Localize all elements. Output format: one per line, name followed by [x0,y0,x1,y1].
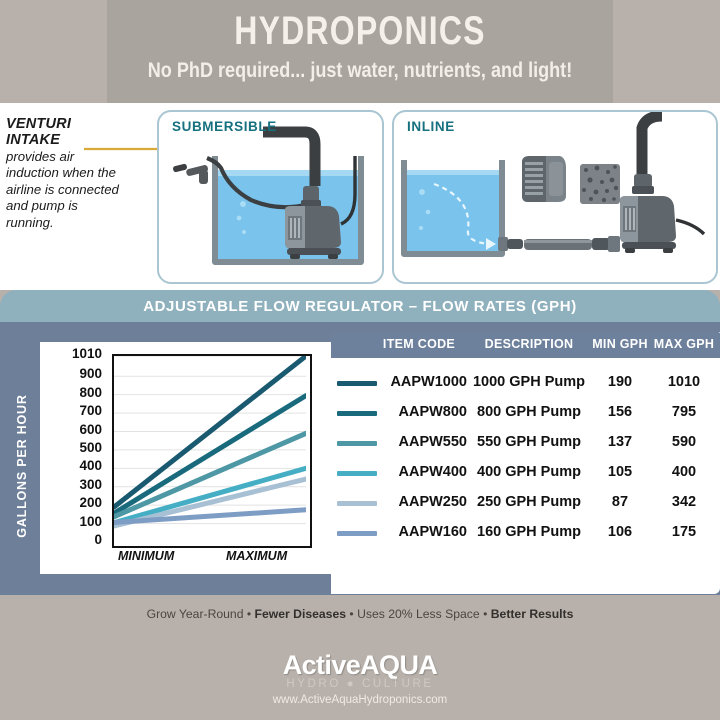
chart-y-tick: 300 [44,479,102,491]
chart-lines [114,356,306,542]
page-title: HYDROPONICS [158,8,563,54]
tagline-part: Uses 20% Less Space [357,607,480,621]
submersible-diagram [159,112,382,282]
cell-description: 1000 GPH Pump [471,374,587,390]
tagline-part: • [244,607,255,621]
panel-inline-label: INLINE [407,119,455,134]
chart-y-tick: 800 [44,387,102,399]
cell-description: 400 GPH Pump [471,464,587,480]
chart-y-tick: 500 [44,442,102,454]
logo-primary-text: ActiveAQUA [0,650,720,681]
cell-min-gph: 190 [589,374,651,390]
cell-item-code: AAPW400 [371,464,467,480]
cell-max-gph: 175 [653,524,715,540]
cell-max-gph: 795 [653,404,715,420]
table-row: AAPW550550 GPH Pump137590 [331,428,720,458]
page-subtitle: No PhD required... just water, nutrients… [142,58,577,84]
table-row: AAPW160160 GPH Pump106175 [331,518,720,548]
inline-diagram [394,112,716,282]
chart-plot-area [112,354,312,548]
cell-description: 250 GPH Pump [471,494,587,510]
venturi-callout-body: provides air induction when the airline … [6,149,128,231]
chart-y-axis-title: GALLONS PER HOUR [11,374,33,564]
chart-y-tick: 400 [44,460,102,472]
chart-y-tick: 900 [44,368,102,380]
cell-item-code: AAPW250 [371,494,467,510]
chart-y-tick: 1010 [44,348,102,360]
panel-submersible-label: SUBMERSIBLE [172,119,277,134]
header-band: HYDROPONICS No PhD required... just wate… [107,0,613,103]
table-row: AAPW250250 GPH Pump87342 [331,488,720,518]
chart-y-tick: 100 [44,516,102,528]
cell-max-gph: 1010 [653,374,715,390]
cell-item-code: AAPW550 [371,434,467,450]
cell-min-gph: 106 [589,524,651,540]
table-header-row: ITEM CODE DESCRIPTION MIN GPH MAX GPH [331,332,720,358]
logo-secondary-text: HYDRO ● CULTURE [0,678,720,690]
cell-description: 160 GPH Pump [471,524,587,540]
cell-item-code: AAPW1000 [371,374,467,390]
table-col-item-code: ITEM CODE [371,337,467,351]
chart-y-tick: 200 [44,497,102,509]
cell-max-gph: 590 [653,434,715,450]
table-row: AAPW10001000 GPH Pump1901010 [331,368,720,398]
chart-y-axis-title-text: GALLONS PER HOUR [15,371,29,561]
venturi-callout-title: VENTURI INTAKE [6,116,128,148]
panel-submersible: SUBMERSIBLE [157,110,384,284]
cell-description: 800 GPH Pump [471,404,587,420]
chart-x-tick-min: MINIMUM [118,549,174,563]
panel-inline: INLINE [392,110,718,284]
chart-y-tick: 0 [44,534,102,546]
tagline-part: Grow Year-Round [147,607,244,621]
cell-min-gph: 156 [589,404,651,420]
chart-x-tick-max: MAXIMUM [226,549,287,563]
chart-y-tick: 700 [44,405,102,417]
card-inner: GALLONS PER HOUR 01002003004005006007008… [0,322,720,595]
tagline: Grow Year-Round • Fewer Diseases • Uses … [0,607,720,621]
tagline-part: • [346,607,357,621]
cell-min-gph: 137 [589,434,651,450]
cell-description: 550 GPH Pump [471,434,587,450]
chart-y-tick: 600 [44,424,102,436]
table-col-min-gph: MIN GPH [589,337,651,351]
cell-max-gph: 400 [653,464,715,480]
tagline-part: Better Results [491,607,574,621]
table-col-description: DESCRIPTION [471,337,587,351]
website-url: www.ActiveAquaHydroponics.com [0,694,720,706]
cell-min-gph: 105 [589,464,651,480]
cell-max-gph: 342 [653,494,715,510]
flow-rate-card: ADJUSTABLE FLOW REGULATOR – FLOW RATES (… [0,290,720,595]
tagline-part: • [480,607,491,621]
brand-logo: ActiveAQUA HYDRO ● CULTURE www.ActiveAqu… [0,650,720,706]
table-row: AAPW400400 GPH Pump105400 [331,458,720,488]
card-title: ADJUSTABLE FLOW REGULATOR – FLOW RATES (… [0,298,720,315]
venturi-callout: VENTURI INTAKE provides air induction wh… [6,116,128,231]
table-col-max-gph: MAX GPH [653,337,715,351]
cell-min-gph: 87 [589,494,651,510]
infographic-page: HYDROPONICS No PhD required... just wate… [0,0,720,720]
flow-rate-table: ITEM CODE DESCRIPTION MIN GPH MAX GPH AA… [331,332,720,594]
tagline-part: Fewer Diseases [255,607,346,621]
table-row: AAPW800800 GPH Pump156795 [331,398,720,428]
flow-rate-chart: 01002003004005006007008009001010 MINIMUM… [40,342,331,574]
cell-item-code: AAPW160 [371,524,467,540]
cell-item-code: AAPW800 [371,404,467,420]
